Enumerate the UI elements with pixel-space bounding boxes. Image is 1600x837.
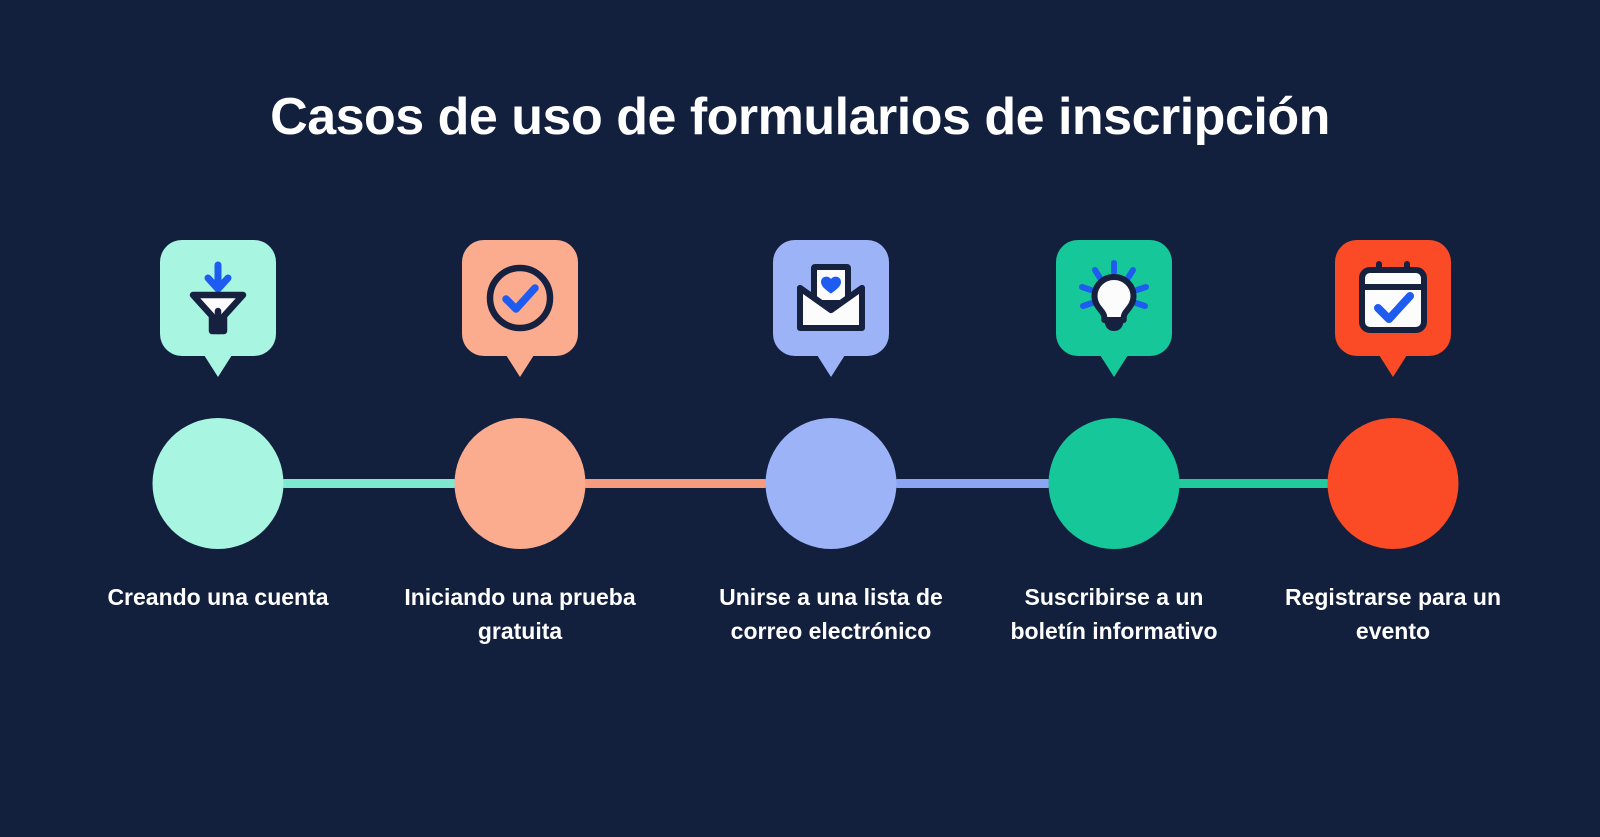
icon-bubble-3-tail [817,355,845,377]
check-circle-icon [484,262,556,334]
icon-bubble-1-tail [204,355,232,377]
timeline-node-4[interactable] [1049,418,1180,549]
icon-bubble-4[interactable] [1056,240,1172,376]
icon-bubble-5-tail [1379,355,1407,377]
timeline-step-5[interactable]: Registrarse para un evento [1263,0,1523,837]
icon-bubble-5[interactable] [1335,240,1451,376]
icon-bubble-2[interactable] [462,240,578,376]
icon-bubble-2-body [462,240,578,356]
icon-bubble-4-tail [1100,355,1128,377]
timeline-node-2[interactable] [455,418,586,549]
icon-bubble-1-body [160,240,276,356]
timeline-step-3-label: Unirse a una lista de correo electrónico [706,580,956,648]
timeline-node-5[interactable] [1328,418,1459,549]
timeline-step-4-label: Suscribirse a un boletín informativo [989,580,1239,648]
icon-bubble-3[interactable] [773,240,889,376]
infographic-canvas: Casos de uso de formularios de inscripci… [0,0,1600,837]
timeline-step-2[interactable]: Iniciando una prueba gratuita [390,0,650,837]
icon-bubble-2-tail [506,355,534,377]
icon-bubble-3-body [773,240,889,356]
icon-bubble-5-body [1335,240,1451,356]
timeline-step-2-label: Iniciando una prueba gratuita [395,580,645,648]
timeline-step-4[interactable]: Suscribirse a un boletín informativo [984,0,1244,837]
calendar-check-icon [1355,260,1431,336]
timeline-step-3[interactable]: Unirse a una lista de correo electrónico [701,0,961,837]
lightbulb-icon [1075,259,1153,337]
icon-bubble-1[interactable] [160,240,276,376]
icon-bubble-4-body [1056,240,1172,356]
timeline-step-1-label: Creando una cuenta [93,580,343,614]
envelope-heart-icon [793,262,869,334]
funnel-download-icon [185,261,251,335]
timeline-node-3[interactable] [766,418,897,549]
timeline-step-1[interactable]: Creando una cuenta [88,0,348,837]
timeline-steps: Creando una cuenta Iniciando una prueba … [0,0,1600,837]
timeline-step-5-label: Registrarse para un evento [1268,580,1518,648]
timeline-node-1[interactable] [153,418,284,549]
